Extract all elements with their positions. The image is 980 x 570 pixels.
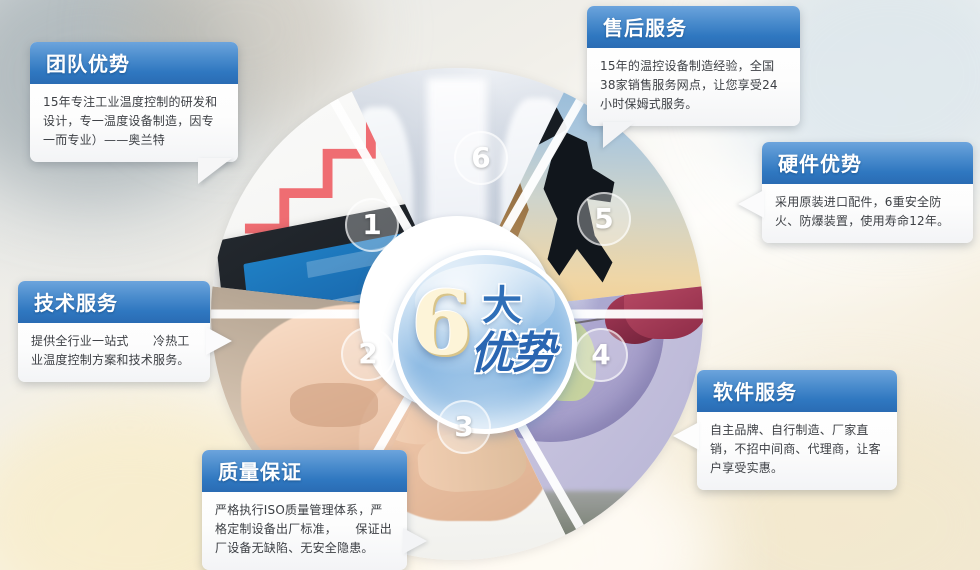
card-title-after-sales: 售后服务: [587, 6, 800, 48]
card-body-hardware: 采用原装进口配件，6重安全防火、防爆装置，使用寿命12年。: [762, 184, 973, 243]
callout-tail: [673, 422, 699, 450]
callout-card-after-sales[interactable]: 售后服务 15年的温控设备制造经验，全国38家销售服务网点，让您享受24小时保姆…: [587, 6, 800, 126]
card-body-after-sales: 15年的温控设备制造经验，全国38家销售服务网点，让您享受24小时保姆式服务。: [587, 48, 800, 126]
callout-card-technical[interactable]: 技术服务 提供全行业一站式 冷热工业温度控制方案和技术服务。: [18, 281, 210, 382]
callout-tail: [738, 190, 764, 218]
hub-number-6: 6: [411, 279, 472, 367]
infographic-canvas: 6 大 优势 1 2 3 4 5 6 团队优势 15年专注工业温度控制的研发和设…: [0, 0, 980, 570]
card-title-technical: 技术服务: [18, 281, 210, 323]
callout-tail: [603, 122, 635, 148]
callout-tail: [198, 158, 232, 184]
segment-number-2[interactable]: 2: [341, 327, 395, 381]
segment-number-5[interactable]: 5: [577, 192, 631, 246]
card-body-software: 自主品牌、自行制造、厂家直销，不招中间商、代理商，让客户享受实惠。: [697, 412, 897, 490]
card-title-hardware: 硬件优势: [762, 142, 973, 184]
callout-card-software[interactable]: 软件服务 自主品牌、自行制造、厂家直销，不招中间商、代理商，让客户享受实惠。: [697, 370, 897, 490]
segment-number-4[interactable]: 4: [574, 328, 628, 382]
card-body-quality: 严格执行ISO质量管理体系，严格定制设备出厂标准， 保证出厂设备无缺陷、无安全隐…: [202, 492, 407, 570]
callout-tail: [206, 327, 232, 355]
center-hub[interactable]: 6 大 优势: [393, 250, 577, 434]
card-title-team: 团队优势: [30, 42, 238, 84]
card-body-team: 15年专注工业温度控制的研发和设计，专一温度设备制造，因专一而专业）——奥兰特: [30, 84, 238, 162]
callout-tail: [403, 528, 427, 554]
callout-card-team[interactable]: 团队优势 15年专注工业温度控制的研发和设计，专一温度设备制造，因专一而专业）—…: [30, 42, 238, 162]
card-title-software: 软件服务: [697, 370, 897, 412]
card-body-technical: 提供全行业一站式 冷热工业温度控制方案和技术服务。: [18, 323, 210, 382]
hub-title-group: 6 大 优势: [398, 255, 572, 429]
segment-number-6[interactable]: 6: [454, 131, 508, 185]
callout-card-hardware[interactable]: 硬件优势 采用原装进口配件，6重安全防火、防爆装置，使用寿命12年。: [762, 142, 973, 243]
hub-word-youshi: 优势: [470, 317, 554, 381]
segment-number-3[interactable]: 3: [437, 400, 491, 454]
card-title-quality: 质量保证: [202, 450, 407, 492]
callout-card-quality[interactable]: 质量保证 严格执行ISO质量管理体系，严格定制设备出厂标准， 保证出厂设备无缺陷…: [202, 450, 407, 570]
segment-number-1[interactable]: 1: [345, 198, 399, 252]
